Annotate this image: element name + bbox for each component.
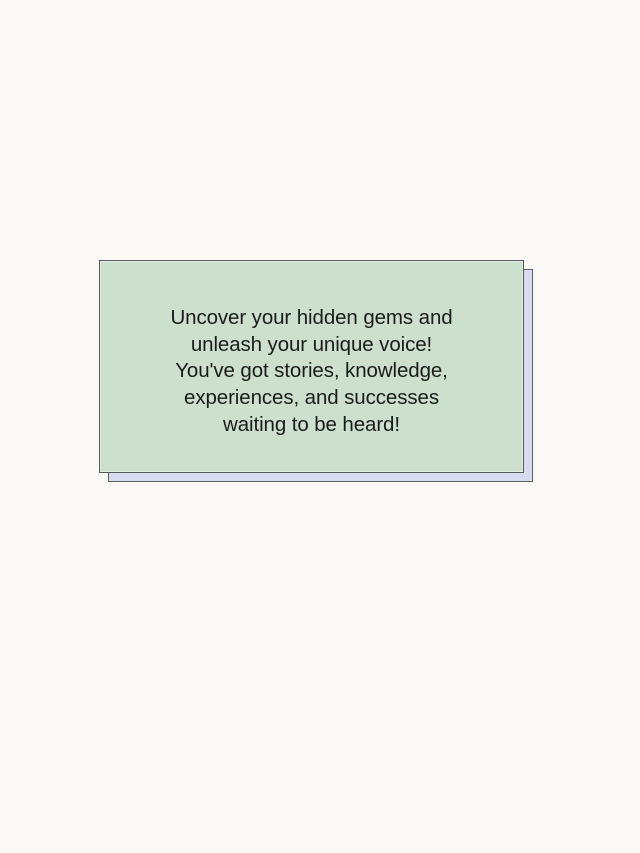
quote-card-stack: Uncover your hidden gems and unleash you… xyxy=(99,260,524,473)
quote-text: Uncover your hidden gems and unleash you… xyxy=(100,261,523,438)
canvas-background: Uncover your hidden gems and unleash you… xyxy=(0,0,640,853)
quote-card[interactable]: Uncover your hidden gems and unleash you… xyxy=(99,260,524,473)
